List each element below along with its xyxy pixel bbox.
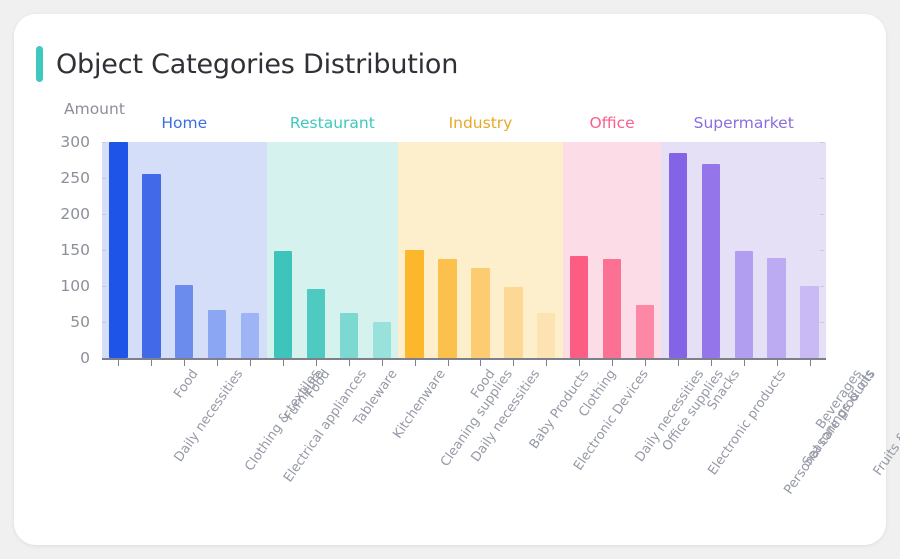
bar[interactable] [735,251,753,358]
group-label-industry: Industry [449,114,513,132]
y-axis-tick-mark [102,214,106,215]
y-axis-tick-label: 0 [80,349,90,367]
bar[interactable] [405,250,423,358]
x-axis-tick-label: Fruits & vegetables [870,367,900,479]
y-axis-tick-label: 100 [60,277,90,295]
bar[interactable] [471,268,489,358]
x-axis-tick-mark [744,359,745,366]
x-axis-tick-label: Kitchenware [390,367,448,442]
plot-area: HomeRestaurantIndustryOfficeSupermarket [102,142,826,358]
x-axis-tick-mark [217,359,218,366]
bar[interactable] [603,259,621,358]
bar[interactable] [109,142,127,358]
group-label-home: Home [161,114,207,132]
x-axis-tick-mark [546,359,547,366]
y-axis-tick-mark [102,142,106,143]
y-axis-tick-mark [820,178,824,179]
x-axis-line [102,358,826,360]
x-axis-tick-mark [316,359,317,366]
bar[interactable] [669,153,687,358]
y-axis-tick-mark [102,250,106,251]
y-axis-tick-mark [102,286,106,287]
x-axis-tick-mark [382,359,383,366]
x-axis-tick-mark [250,359,251,366]
bar[interactable] [636,305,654,358]
y-axis-tick-label: 50 [70,313,90,331]
y-axis-tick-mark [820,250,824,251]
x-axis-tick-mark [415,359,416,366]
x-axis-tick-label: Seasonings & oils [800,367,878,469]
x-axis-tick-mark [579,359,580,366]
x-axis-tick-label: Food [172,367,202,401]
bar[interactable] [570,256,588,358]
title-row: Object Categories Distribution [36,46,458,82]
bar[interactable] [373,322,391,358]
bar[interactable] [340,313,358,358]
title-accent-bar [36,46,43,82]
y-axis-label: Amount [64,100,125,118]
page-title: Object Categories Distribution [56,49,458,80]
group-label-supermarket: Supermarket [694,114,794,132]
x-axis-tick-mark [612,359,613,366]
bar[interactable] [307,289,325,358]
x-axis-tick-mark [810,359,811,366]
y-axis-tick-label: 150 [60,241,90,259]
y-axis-tick-mark [820,142,824,143]
x-axis-tick-mark [448,359,449,366]
y-axis-tick-mark [102,178,106,179]
y-axis-tick-mark [820,214,824,215]
x-axis-tick-mark [118,359,119,366]
y-axis-tick-label: 250 [60,169,90,187]
y-axis-tick-mark [102,322,106,323]
bar[interactable] [142,174,160,358]
y-axis: 050100150200250300 [14,142,100,358]
bar[interactable] [537,313,555,358]
bar[interactable] [208,310,226,358]
group-label-office: Office [589,114,634,132]
y-axis-tick-label: 300 [60,133,90,151]
bar[interactable] [175,285,193,358]
x-axis-tick-mark [645,359,646,366]
x-axis-tick-mark [184,359,185,366]
group-label-restaurant: Restaurant [290,114,375,132]
x-axis-tick-mark [480,359,481,366]
bar[interactable] [438,259,456,358]
bar[interactable] [241,313,259,358]
bar[interactable] [702,164,720,358]
y-axis-tick-label: 200 [60,205,90,223]
y-axis-tick-mark [820,322,824,323]
x-axis-tick-mark [349,359,350,366]
x-axis-tick-mark [678,359,679,366]
x-axis-tick-mark [513,359,514,366]
bar[interactable] [274,251,292,358]
chart-card: Object Categories Distribution Amount 05… [14,14,886,545]
x-axis-tick-mark [777,359,778,366]
y-axis-tick-mark [820,286,824,287]
x-axis-tick-mark [151,359,152,366]
bar[interactable] [767,258,785,358]
bar[interactable] [504,287,522,358]
x-axis-tick-mark [711,359,712,366]
x-axis-tick-mark [283,359,284,366]
bar[interactable] [800,286,818,358]
